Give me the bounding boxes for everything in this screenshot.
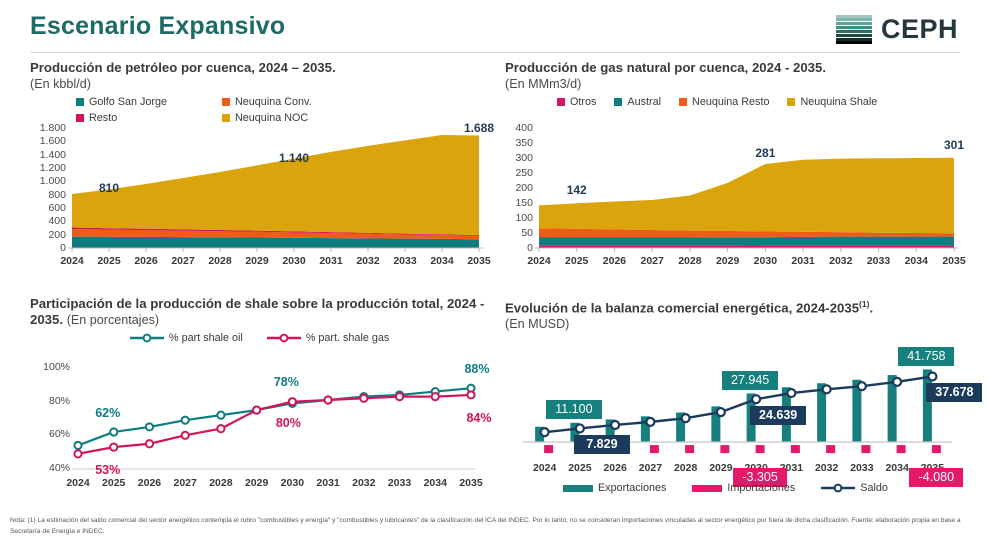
- data-point: [289, 398, 296, 405]
- legend-label: Otros: [570, 96, 596, 108]
- slide-header: Escenario Expansivo CEPH: [0, 0, 990, 52]
- legend-label: % part shale oil: [169, 332, 243, 344]
- chart-subtitle-shale: (En porcentajes): [67, 313, 159, 327]
- data-point: [217, 412, 224, 419]
- chart-title-oil: Producción de petróleo por cuenca, 2024 …: [30, 60, 485, 76]
- x-tick-2033: 2033: [845, 462, 879, 474]
- legend-swatch-icon: [222, 114, 230, 122]
- x-tick-2027: 2027: [633, 462, 667, 474]
- x-tick-2032: 2032: [351, 255, 385, 267]
- x-tick-2026: 2026: [132, 477, 166, 489]
- chart-title-balance: Evolución de la balanza comercial energé…: [505, 296, 960, 316]
- data-point: [74, 450, 81, 457]
- x-tick-2028: 2028: [203, 255, 237, 267]
- data-point: [74, 442, 81, 449]
- data-point: [467, 391, 474, 398]
- chart-subtitle-balance: (En MUSD): [505, 316, 960, 332]
- y-tick-1.600: 1.600: [30, 135, 66, 147]
- header-divider: [30, 52, 960, 53]
- y-tick-400: 400: [30, 215, 66, 227]
- area-series-neuquina-shale: [539, 158, 954, 234]
- data-point-saldo: [823, 386, 831, 394]
- plot-area-gas: 0501001502002503003504002024202520262027…: [505, 94, 960, 272]
- y-tick-100%: 100%: [30, 361, 70, 373]
- chart-title-balance-text: Evolución de la balanza comercial energé…: [505, 300, 859, 315]
- chart-subtitle-oil: (En kbbl/d): [30, 76, 485, 92]
- annotation-810: 810: [87, 181, 131, 195]
- page-title: Escenario Expansivo: [30, 12, 285, 41]
- x-tick-2030: 2030: [275, 477, 309, 489]
- panel-gas-production: Producción de gas natural por cuenca, 20…: [505, 60, 960, 290]
- data-point-saldo: [893, 378, 901, 386]
- legend-swatch-icon: [222, 98, 230, 106]
- x-tick-2024: 2024: [522, 255, 556, 267]
- legend-item-neuquina-conv-[interactable]: Neuquina Conv.: [222, 96, 352, 108]
- x-tick-2031: 2031: [311, 477, 345, 489]
- legend-item-austral[interactable]: Austral: [614, 96, 661, 108]
- annotation-1.688: 1.688: [457, 121, 501, 135]
- chart-title-balance-tail: .: [869, 300, 873, 315]
- legend-item-neuquina-shale[interactable]: Neuquina Shale: [787, 96, 877, 108]
- plot-area-balance: 2024202520262027202820292030203120322033…: [505, 334, 960, 502]
- plot-area-oil: 02004006008001.0001.2001.4001.6001.80020…: [30, 94, 485, 272]
- x-tick-2033: 2033: [388, 255, 422, 267]
- y-tick-1.000: 1.000: [30, 175, 66, 187]
- data-point: [253, 406, 260, 413]
- logo-wordmark: CEPH: [881, 14, 958, 45]
- logo-stripes-icon: [836, 15, 872, 45]
- legend-line-marker-icon: [267, 333, 301, 343]
- annotation-78%: 78%: [266, 375, 306, 389]
- y-tick-600: 600: [30, 202, 66, 214]
- y-tick-1.400: 1.400: [30, 149, 66, 161]
- legend-item--part.-shale-gas[interactable]: % part. shale gas: [267, 332, 389, 344]
- legend-item--part-shale-oil[interactable]: % part shale oil: [130, 332, 243, 344]
- x-tick-2029: 2029: [711, 255, 745, 267]
- data-point: [324, 396, 331, 403]
- logo-stripe-1: [836, 18, 872, 21]
- annotation-1.140: 1.140: [272, 151, 316, 165]
- legend-label: Exportaciones: [598, 482, 666, 494]
- x-tick-2035: 2035: [937, 255, 971, 267]
- panel-shale-share: Participación de la producción de shale …: [30, 296, 485, 506]
- legend-label: Neuquina NOC: [235, 112, 308, 124]
- panel-trade-balance: Evolución de la balanza comercial energé…: [505, 296, 960, 506]
- data-point: [182, 417, 189, 424]
- legend-label: % part. shale gas: [306, 332, 389, 344]
- x-tick-2035: 2035: [462, 255, 496, 267]
- legend-label: Neuquina Conv.: [235, 96, 312, 108]
- data-point: [110, 428, 117, 435]
- legend-item-neuquina-resto[interactable]: Neuquina Resto: [679, 96, 769, 108]
- x-tick-2025: 2025: [92, 255, 126, 267]
- x-tick-2024: 2024: [61, 477, 95, 489]
- y-tick-150: 150: [505, 197, 533, 209]
- slide-root: Escenario Expansivo CEPH Producción de p…: [0, 0, 990, 555]
- chart-title-balance-footnote: (1): [859, 299, 869, 309]
- y-tick-50: 50: [505, 227, 533, 239]
- x-tick-2030: 2030: [748, 255, 782, 267]
- legend-item-importaciones[interactable]: Importaciones: [692, 482, 795, 494]
- legend-item-neuquina-noc[interactable]: Neuquina NOC: [222, 112, 352, 124]
- logo-stripe-6: [836, 38, 872, 41]
- logo-stripe-5: [836, 34, 872, 37]
- data-point-saldo: [541, 429, 549, 437]
- data-point: [146, 440, 153, 447]
- data-point-saldo: [682, 415, 690, 423]
- legend-shale-share: % part shale oil% part. shale gas: [130, 332, 389, 344]
- x-tick-2026: 2026: [129, 255, 163, 267]
- annotation-88%: 88%: [457, 362, 497, 376]
- x-tick-2025: 2025: [97, 477, 131, 489]
- x-tick-2032: 2032: [810, 462, 844, 474]
- annotation-saldo-7.829: 7.829: [574, 435, 630, 454]
- y-tick-800: 800: [30, 189, 66, 201]
- legend-gas-production: OtrosAustralNeuquina RestoNeuquina Shale: [557, 96, 937, 108]
- legend-label: Neuquina Resto: [692, 96, 769, 108]
- data-point-saldo: [928, 373, 936, 381]
- x-tick-2028: 2028: [204, 477, 238, 489]
- x-tick-2033: 2033: [862, 255, 896, 267]
- x-tick-2025: 2025: [563, 462, 597, 474]
- legend-item-exportaciones[interactable]: Exportaciones: [563, 482, 666, 494]
- y-tick-60%: 60%: [30, 428, 70, 440]
- x-tick-2025: 2025: [560, 255, 594, 267]
- y-tick-200: 200: [505, 182, 533, 194]
- legend-item-otros[interactable]: Otros: [557, 96, 596, 108]
- annotation-62%: 62%: [88, 406, 128, 420]
- y-tick-1.800: 1.800: [30, 122, 66, 134]
- x-tick-2024: 2024: [55, 255, 89, 267]
- annotation-281: 281: [743, 146, 787, 160]
- y-tick-0: 0: [505, 242, 533, 254]
- ceph-logo: CEPH: [836, 14, 958, 45]
- data-point: [182, 432, 189, 439]
- panel-oil-production: Producción de petróleo por cuenca, 2024 …: [30, 60, 485, 290]
- footnote: Nota: (1) La estimación del saldo comerc…: [10, 516, 980, 537]
- bar-importaciones: [650, 445, 659, 453]
- legend-label: Saldo: [860, 482, 888, 494]
- data-point: [432, 393, 439, 400]
- data-point: [396, 393, 403, 400]
- bar-importaciones: [826, 445, 835, 453]
- x-tick-2031: 2031: [314, 255, 348, 267]
- x-tick-2032: 2032: [347, 477, 381, 489]
- x-tick-2031: 2031: [786, 255, 820, 267]
- legend-swatch-icon: [614, 98, 622, 106]
- legend-label: Austral: [627, 96, 661, 108]
- annotation-saldo-37.678: 37.678: [926, 383, 982, 402]
- legend-oil-production: Golfo San JorgeNeuquina Conv.RestoNeuqui…: [76, 96, 376, 124]
- logo-stripe-0: [836, 15, 872, 18]
- data-point-saldo: [752, 396, 760, 404]
- annotation-import--4.080: -4.080: [909, 468, 963, 487]
- x-tick-2024: 2024: [528, 462, 562, 474]
- y-tick-400: 400: [505, 122, 533, 134]
- plot-area-shale: 40%60%80%100%202420252026202720282029203…: [30, 332, 485, 497]
- legend-swatch-icon: [557, 98, 565, 106]
- y-tick-80%: 80%: [30, 395, 70, 407]
- x-tick-2032: 2032: [824, 255, 858, 267]
- y-tick-0: 0: [30, 242, 66, 254]
- chart-subtitle-gas: (En MMm3/d): [505, 76, 960, 92]
- legend-marker-icon: [821, 483, 855, 493]
- legend-swatch-icon: [679, 98, 687, 106]
- data-point: [217, 425, 224, 432]
- annotation-export-41.758: 41.758: [898, 347, 954, 366]
- legend-label: Importaciones: [727, 482, 795, 494]
- legend-swatch-icon: [787, 98, 795, 106]
- legend-item-saldo[interactable]: Saldo: [821, 482, 888, 494]
- data-point: [110, 444, 117, 451]
- data-point-saldo: [787, 389, 795, 397]
- bar-importaciones: [897, 445, 906, 453]
- y-tick-350: 350: [505, 137, 533, 149]
- x-tick-2028: 2028: [673, 255, 707, 267]
- legend-swatch-icon: [76, 114, 84, 122]
- y-tick-40%: 40%: [30, 462, 70, 474]
- x-tick-2030: 2030: [277, 255, 311, 267]
- annotation-84%: 84%: [459, 411, 499, 425]
- data-point: [360, 395, 367, 402]
- legend-label: Resto: [89, 112, 117, 124]
- y-tick-300: 300: [505, 152, 533, 164]
- logo-stripe-3: [836, 26, 872, 29]
- bar-importaciones: [932, 445, 941, 453]
- annotation-export-27.945: 27.945: [722, 371, 778, 390]
- data-point-saldo: [611, 421, 619, 429]
- x-tick-2035: 2035: [454, 477, 488, 489]
- legend-swatch-icon: [76, 98, 84, 106]
- y-tick-200: 200: [30, 229, 66, 241]
- annotation-142: 142: [555, 183, 599, 197]
- x-tick-2026: 2026: [597, 255, 631, 267]
- annotation-301: 301: [932, 138, 976, 152]
- data-point: [146, 423, 153, 430]
- bar-importaciones: [791, 445, 800, 453]
- y-tick-100: 100: [505, 212, 533, 224]
- x-tick-2034: 2034: [899, 255, 933, 267]
- legend-label: Neuquina Shale: [800, 96, 877, 108]
- bar-importaciones: [861, 445, 870, 453]
- annotation-80%: 80%: [268, 416, 308, 430]
- x-tick-2027: 2027: [168, 477, 202, 489]
- legend-marker-icon: [563, 483, 593, 493]
- x-tick-2027: 2027: [166, 255, 200, 267]
- bar-importaciones: [720, 445, 729, 453]
- x-tick-2034: 2034: [418, 477, 452, 489]
- annotation-saldo-24.639: 24.639: [750, 406, 806, 425]
- annotation-export-11.100: 11.100: [546, 400, 602, 419]
- legend-trade-balance: ExportacionesImportacionesSaldo: [563, 482, 888, 494]
- y-tick-1.200: 1.200: [30, 162, 66, 174]
- data-point-saldo: [717, 408, 725, 416]
- data-point-saldo: [646, 418, 654, 426]
- bar-importaciones: [685, 445, 694, 453]
- data-point-saldo: [858, 383, 866, 391]
- chart-title-gas: Producción de gas natural por cuenca, 20…: [505, 60, 960, 76]
- x-tick-2029: 2029: [240, 477, 274, 489]
- x-tick-2033: 2033: [383, 477, 417, 489]
- logo-stripe-7: [836, 41, 872, 44]
- legend-item-golfo-san-jorge[interactable]: Golfo San Jorge: [76, 96, 196, 108]
- legend-item-resto[interactable]: Resto: [76, 112, 196, 124]
- logo-stripe-2: [836, 22, 872, 25]
- chart-title-shale: Participación de la producción de shale …: [30, 296, 485, 328]
- x-tick-2027: 2027: [635, 255, 669, 267]
- x-tick-2026: 2026: [598, 462, 632, 474]
- data-point-saldo: [576, 425, 584, 433]
- x-tick-2028: 2028: [669, 462, 703, 474]
- x-tick-2034: 2034: [425, 255, 459, 267]
- y-tick-250: 250: [505, 167, 533, 179]
- bar-importaciones: [756, 445, 765, 453]
- legend-line-marker-icon: [130, 333, 164, 343]
- legend-label: Golfo San Jorge: [89, 96, 167, 108]
- legend-marker-icon: [692, 483, 722, 493]
- logo-stripe-4: [836, 30, 872, 33]
- x-tick-2029: 2029: [240, 255, 274, 267]
- annotation-53%: 53%: [88, 463, 128, 477]
- bar-importaciones: [544, 445, 553, 453]
- area-series-austral: [539, 237, 954, 246]
